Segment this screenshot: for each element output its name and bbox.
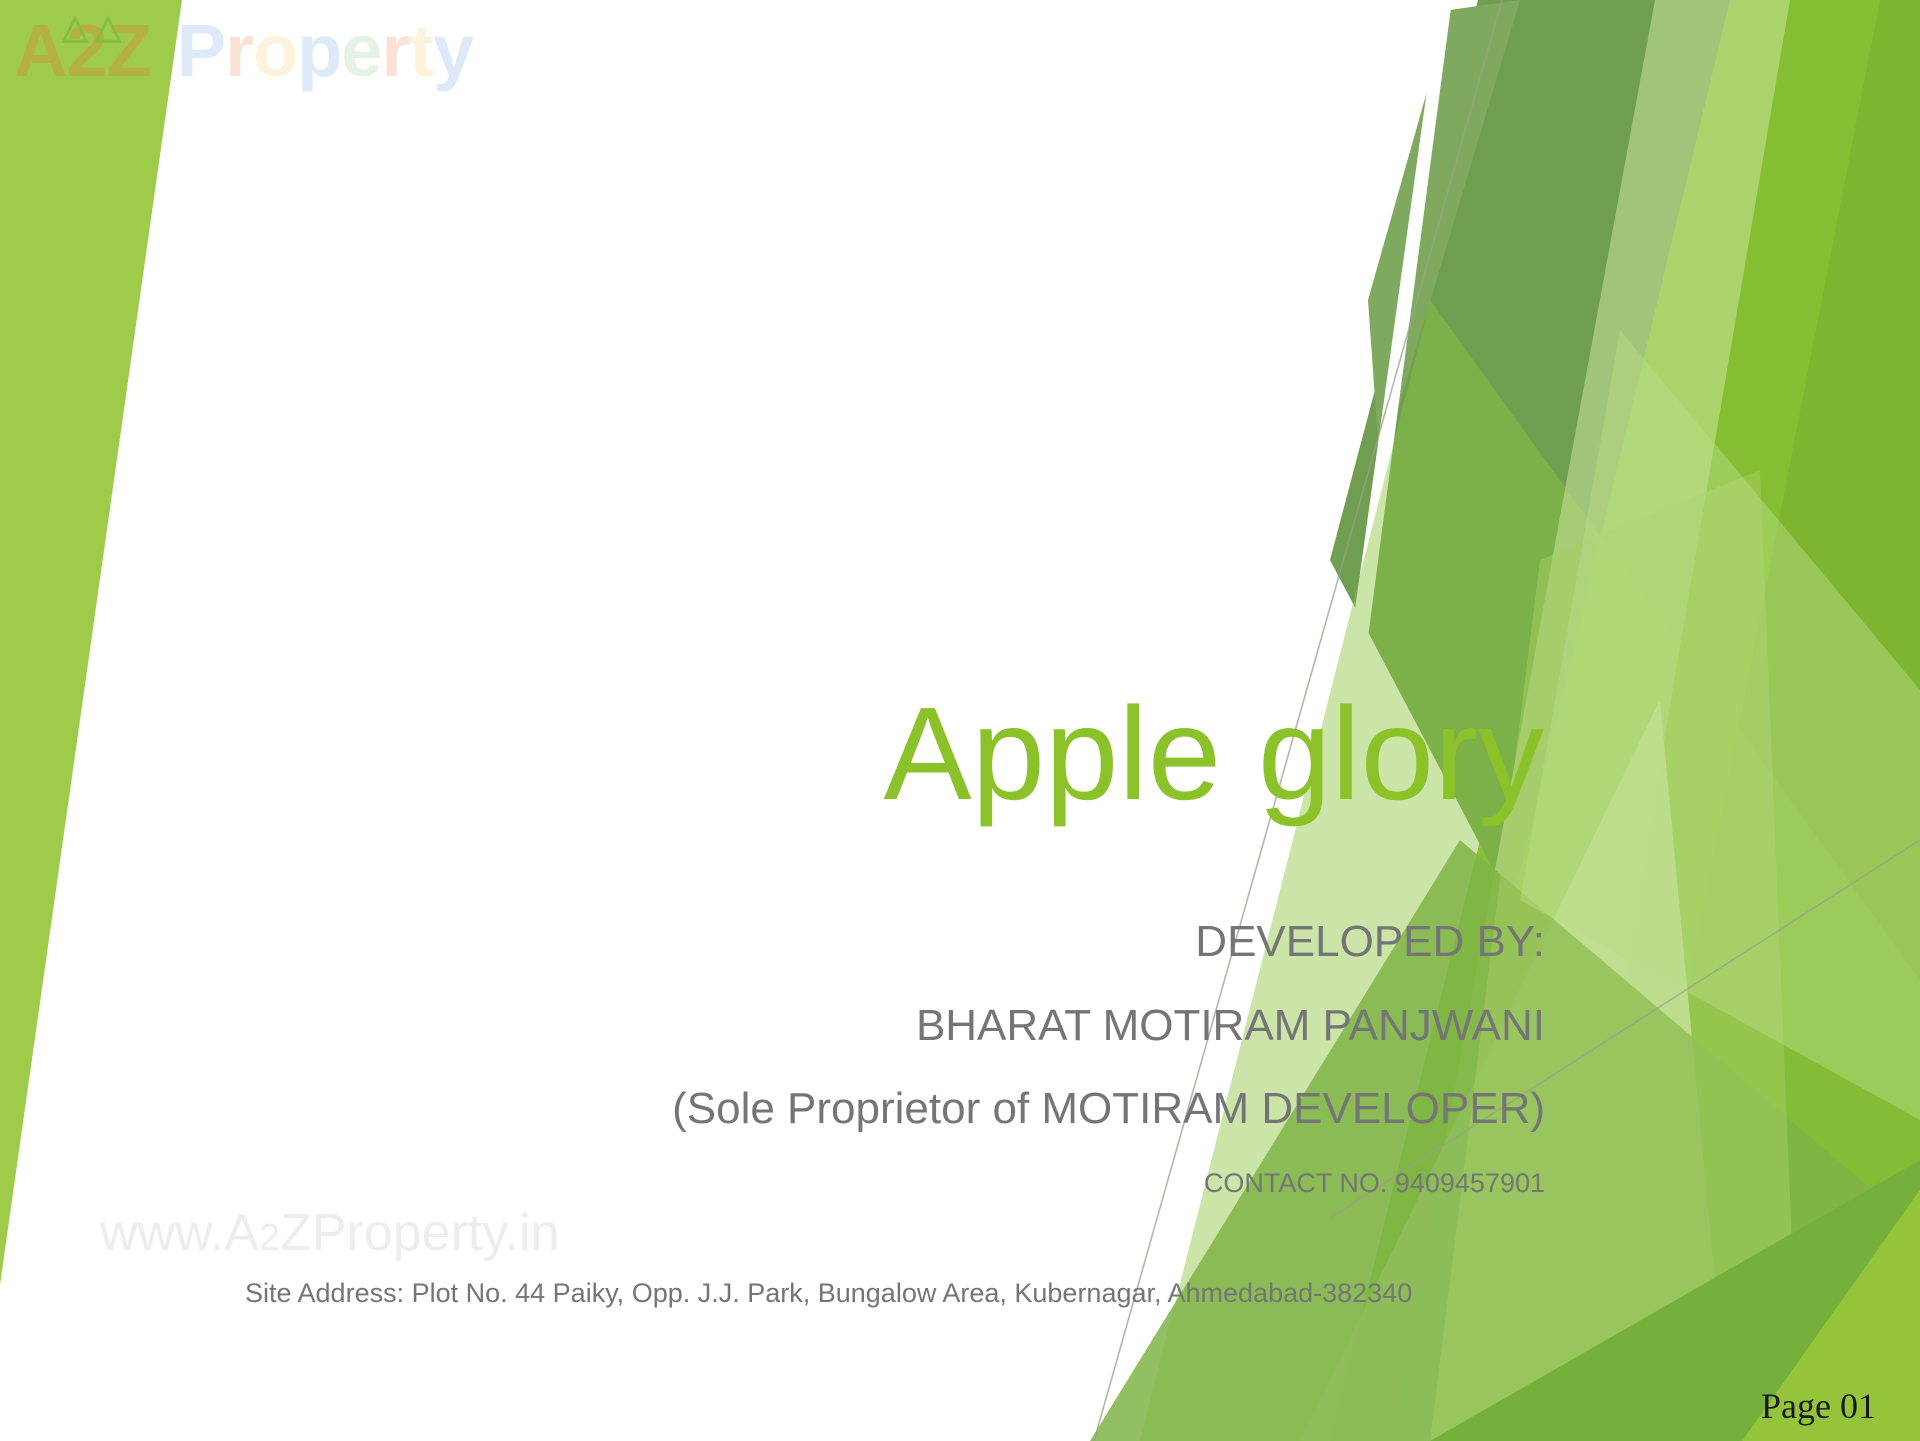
firm-name: (Sole Proprietor of MOTIRAM DEVELOPER) (145, 1084, 1545, 1134)
page-title: Apple glory (144, 685, 1544, 824)
url-suffix: ZProperty.in (280, 1204, 559, 1262)
facet-overlay-b (1520, 330, 1920, 1120)
url-subscript-two: 2 (259, 1217, 280, 1259)
url-prefix: www.A (100, 1204, 259, 1262)
a2z-logo-group: A2Z△ △ (14, 14, 151, 88)
page-number: Page 01 (1761, 1385, 1876, 1427)
right-bright-green-column (1596, 0, 1920, 1441)
logo-letter-p2: p (297, 9, 341, 92)
house-roof-icon: △ △ (62, 10, 121, 44)
logo-letter-e1: e (341, 9, 381, 92)
developer-name: BHARAT MOTIRAM PANJWANI (145, 1001, 1545, 1051)
logo-letter-y1: y (433, 9, 473, 92)
site-address: Site Address: Plot No. 44 Paiky, Opp. J.… (245, 1278, 1412, 1309)
logo-letter-t1: t (409, 9, 433, 92)
logo-letter-p1: P (177, 9, 225, 92)
logo-letter-r2: r (382, 9, 410, 92)
presentation-slide: A2Z△ △Property www.A2ZProperty.in Apple … (0, 0, 1920, 1441)
contact-number: CONTACT NO. 9409457901 (145, 1168, 1545, 1199)
logo-letter-a: A (14, 9, 66, 92)
a2z-property-logo-watermark: A2Z△ △Property (14, 14, 473, 88)
developed-by-label: DEVELOPED BY: (145, 917, 1545, 967)
website-url-watermark: www.A2ZProperty.in (100, 1207, 559, 1259)
logo-letter-r1: r (225, 9, 253, 92)
logo-letter-o1: o (253, 9, 297, 92)
